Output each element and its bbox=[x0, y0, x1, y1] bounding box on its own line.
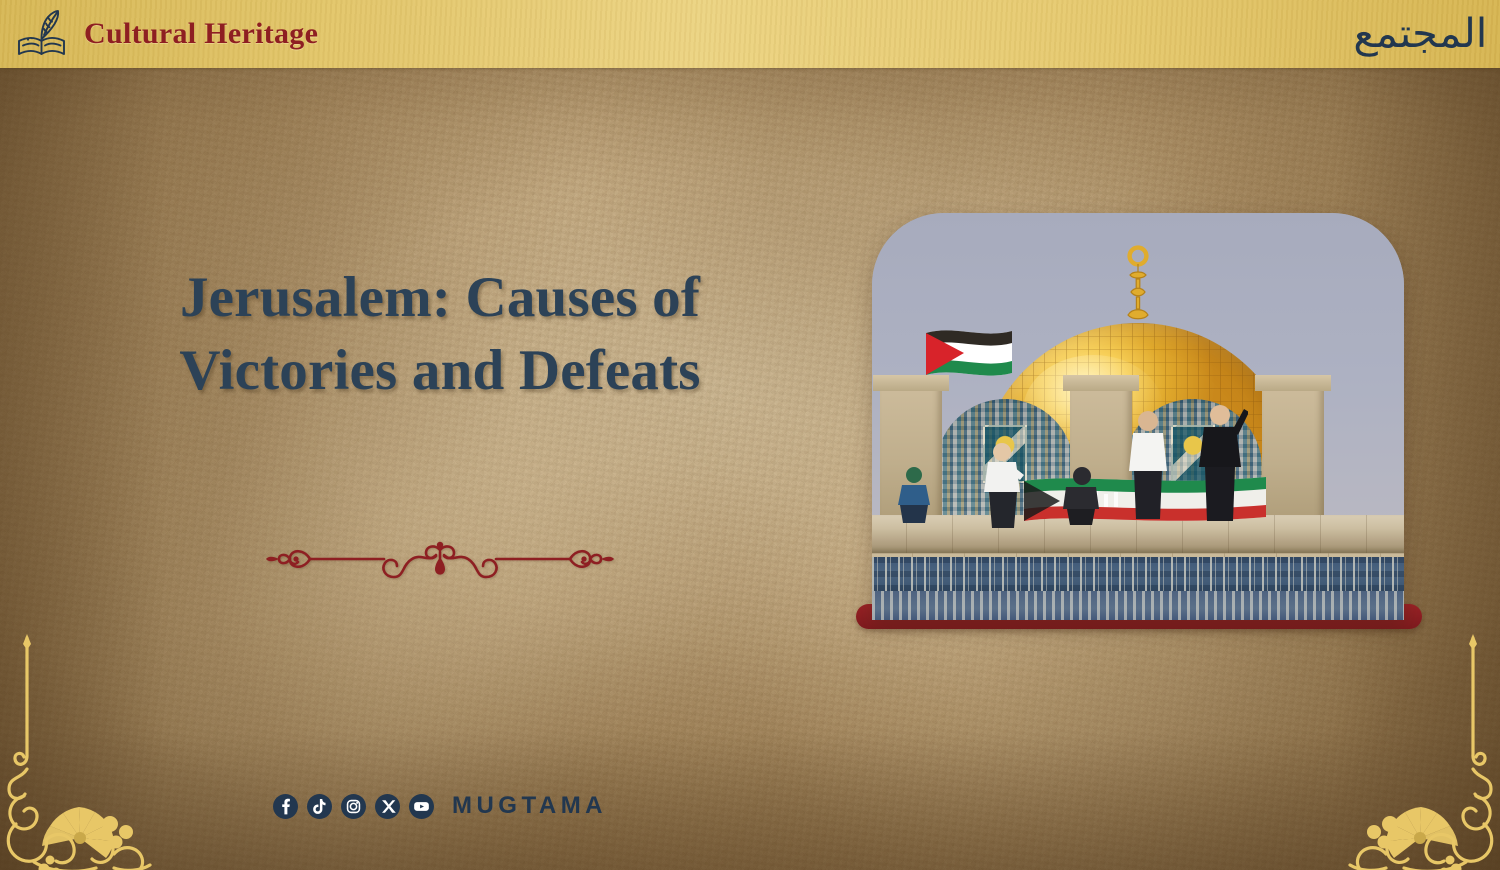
hero-photo[interactable] bbox=[872, 213, 1404, 620]
flourish-divider-icon bbox=[266, 528, 614, 580]
person-black-shirt-right bbox=[1192, 401, 1248, 521]
corner-ornament-bottom-left bbox=[0, 626, 170, 870]
lower-tile-band bbox=[872, 591, 1404, 620]
slide-root: Cultural Heritage المجتمع Jerusalem: Cau… bbox=[0, 0, 1500, 870]
title-block: Jerusalem: Causes of Victories and Defea… bbox=[60, 262, 820, 408]
header-left-group: Cultural Heritage bbox=[0, 8, 318, 60]
pier-right bbox=[1262, 383, 1324, 529]
title-line-1: Jerusalem: Causes of bbox=[60, 262, 820, 335]
frieze-glyphs bbox=[872, 557, 1404, 591]
corner-flourish-icon bbox=[0, 626, 170, 870]
corner-ornament-bottom-right bbox=[1330, 626, 1500, 870]
person-white-shirt-left bbox=[980, 441, 1026, 529]
person-white-shirt-center bbox=[1124, 409, 1172, 521]
capital-right bbox=[1255, 375, 1331, 391]
title-line-2: Victories and Defeats bbox=[60, 335, 820, 408]
corner-flourish-icon bbox=[1330, 626, 1500, 870]
brand-logo-arabic-text: المجتمع bbox=[1353, 14, 1487, 54]
person-crouching-left bbox=[890, 463, 938, 525]
page-title: Jerusalem: Causes of Victories and Defea… bbox=[60, 262, 820, 408]
brand-logo[interactable]: المجتمع bbox=[1364, 6, 1476, 62]
calligraphy-frieze bbox=[872, 557, 1404, 591]
divider-wrapper bbox=[60, 528, 820, 580]
lower-tile-glyphs bbox=[872, 591, 1404, 620]
person-bending bbox=[1058, 463, 1104, 525]
capital-center bbox=[1063, 375, 1139, 391]
facebook-icon[interactable] bbox=[273, 794, 298, 819]
header-category-title: Cultural Heritage bbox=[84, 17, 318, 51]
footer-social-bar: MUGTAMA bbox=[60, 792, 820, 820]
footer-brand-name: MUGTAMA bbox=[452, 792, 607, 820]
instagram-icon[interactable] bbox=[341, 794, 366, 819]
x-icon[interactable] bbox=[375, 794, 400, 819]
book-quill-icon bbox=[14, 8, 70, 60]
dome-finial-icon bbox=[1120, 245, 1156, 329]
header-band: Cultural Heritage المجتمع bbox=[0, 0, 1500, 68]
youtube-icon[interactable] bbox=[409, 794, 434, 819]
hero-photo-inner bbox=[872, 213, 1404, 620]
tiktok-icon[interactable] bbox=[307, 794, 332, 819]
palestinian-flag-waving bbox=[920, 323, 1050, 399]
